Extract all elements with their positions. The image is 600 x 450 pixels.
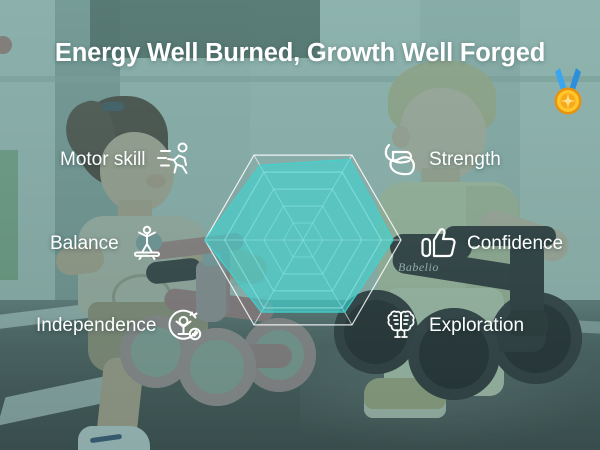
label-confidence-text: Confidence	[467, 234, 563, 253]
label-exploration[interactable]: Exploration	[382, 306, 524, 344]
page-title: Energy Well Burned, Growth Well Forged	[0, 39, 600, 68]
thumbs-up-icon	[420, 224, 458, 262]
label-strength[interactable]: Strength	[382, 140, 501, 178]
poster-canvas: Babelio Energy Well Burned, Growth Well …	[0, 0, 600, 450]
radar-chart-svg	[195, 130, 411, 350]
person-check-circle-icon	[165, 306, 203, 344]
label-motor-skill[interactable]: Motor skill	[60, 140, 193, 178]
label-confidence[interactable]: Confidence	[420, 224, 563, 262]
running-person-icon	[155, 140, 193, 178]
label-strength-text: Strength	[429, 150, 501, 169]
radar-chart	[195, 130, 411, 350]
balance-board-icon	[128, 224, 166, 262]
label-exploration-text: Exploration	[429, 316, 524, 335]
flexed-bicep-icon	[382, 140, 420, 178]
label-motor-skill-text: Motor skill	[60, 150, 146, 169]
gold-medal-icon	[548, 66, 588, 116]
label-independence[interactable]: Independence	[36, 306, 203, 344]
brain-icon	[382, 306, 420, 344]
label-balance-text: Balance	[50, 234, 119, 253]
label-independence-text: Independence	[36, 316, 156, 335]
label-balance[interactable]: Balance	[50, 224, 166, 262]
